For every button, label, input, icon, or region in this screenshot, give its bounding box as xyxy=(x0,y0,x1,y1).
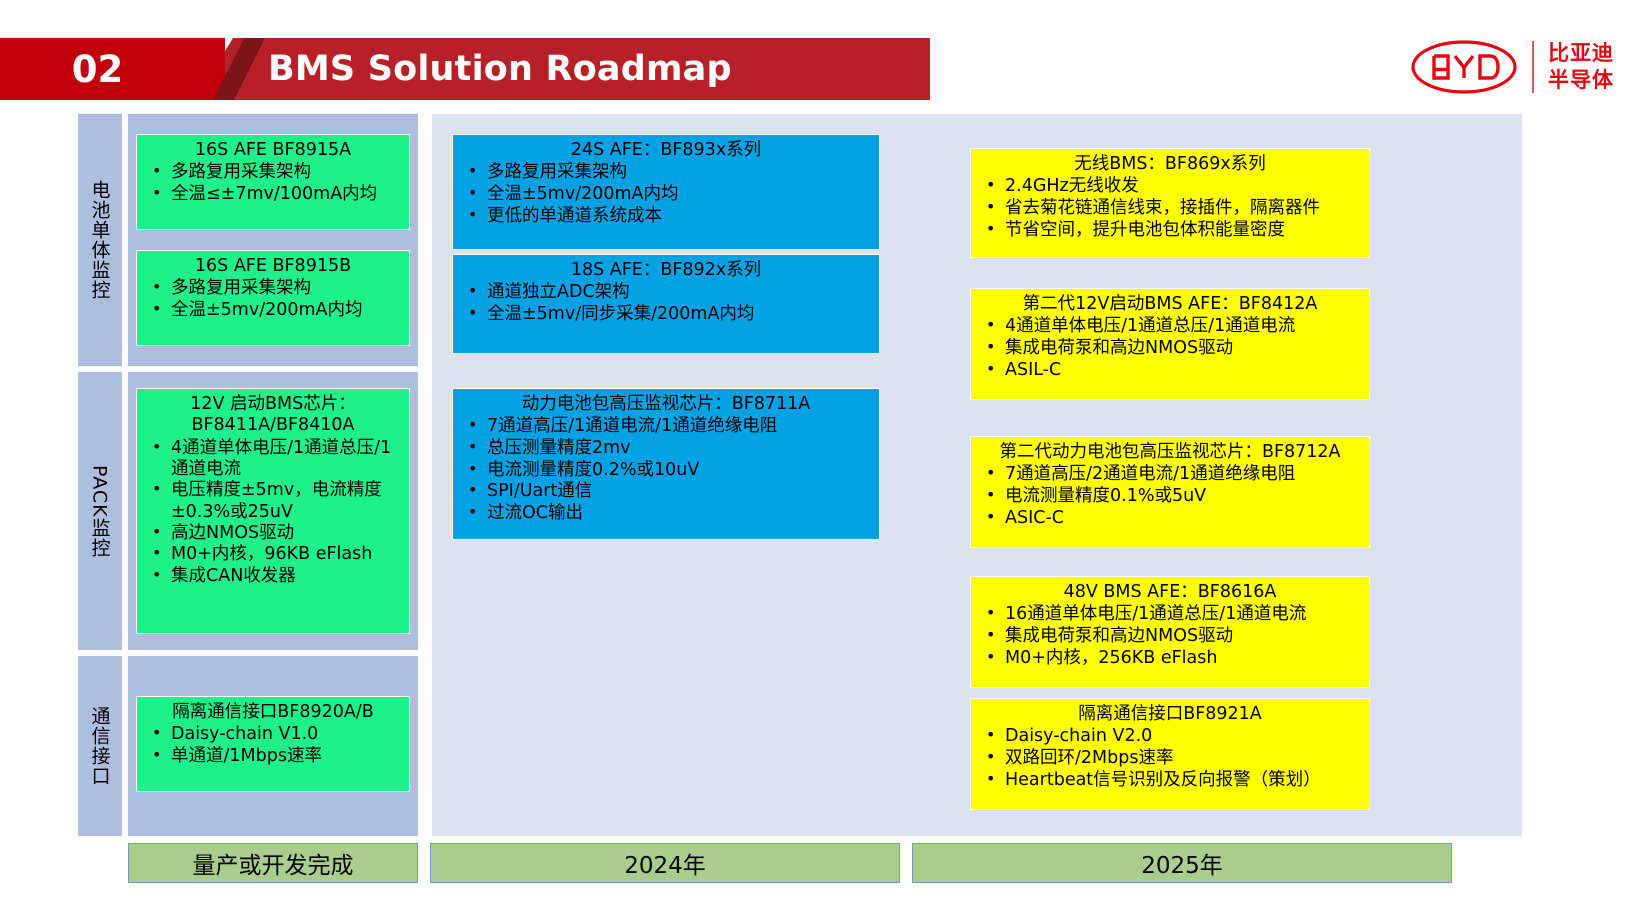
card-48v-bms-bf8616a[interactable]: 48V BMS AFE：BF8616A 16通道单体电压/1通道总压/1通道电流… xyxy=(970,576,1370,688)
card-bullet: 通道独立ADC架构 xyxy=(461,282,871,304)
card-bullet-list: 多路复用采集架构 全温±5mv/200mA内均 xyxy=(145,278,401,321)
card-bullet-list: 多路复用采集架构 全温±5mv/200mA内均 更低的单通道系统成本 xyxy=(461,162,871,227)
footer-bar-label: 量产或开发完成 xyxy=(193,846,354,880)
card-bullet-list: Daisy-chain V2.0 双路回环/2Mbps速率 Heartbeat信… xyxy=(979,726,1361,791)
card-hv-monitor-bf8711a[interactable]: 动力电池包高压监视芯片：BF8711A 7通道高压/1通道电流/1通道绝缘电阻 … xyxy=(452,388,880,540)
sidebar-item-label: 电池单体监控 xyxy=(87,180,114,300)
card-bullet: SPI/Uart通信 xyxy=(461,481,871,503)
slide-root: 02 BMS Solution Roadmap 比亚迪 半导体 电池单体监控 xyxy=(0,0,1636,919)
card-bullet: Heartbeat信号识别及反向报警（策划） xyxy=(979,770,1361,792)
card-bullet: 全温±5mv/200mA内均 xyxy=(461,184,871,206)
card-bullet: M0+内核，256KB eFlash xyxy=(979,648,1361,670)
card-bullet: 多路复用采集架构 xyxy=(145,162,401,184)
card-bullet: 集成电荷泵和高边NMOS驱动 xyxy=(979,338,1361,360)
footer-bar-2025[interactable]: 2025年 xyxy=(912,843,1452,883)
card-title: 16S AFE BF8915B xyxy=(145,256,401,277)
page-title: BMS Solution Roadmap xyxy=(268,38,732,100)
sidebar-item-pack-monitoring[interactable]: PACK监控 xyxy=(78,372,122,650)
card-bullet-list: 7通道高压/1通道电流/1通道绝缘电阻 总压测量精度2mv 电流测量精度0.2%… xyxy=(461,416,871,524)
card-gen2-12v-bms-bf8412a[interactable]: 第二代12V启动BMS AFE：BF8412A 4通道单体电压/1通道总压/1通… xyxy=(970,288,1370,400)
card-bullet: 7通道高压/2通道电流/1通道绝缘电阻 xyxy=(979,464,1361,486)
card-title: 第二代12V启动BMS AFE：BF8412A xyxy=(979,294,1361,315)
logo-chinese-name: 比亚迪 半导体 xyxy=(1548,40,1614,94)
card-16s-afe-bf8915a[interactable]: 16S AFE BF8915A 多路复用采集架构 全温≤±7mv/100mA内均 xyxy=(136,134,410,230)
card-bullet-list: 通道独立ADC架构 全温±5mv/同步采集/200mA内均 xyxy=(461,282,871,325)
card-bullet: 全温±5mv/同步采集/200mA内均 xyxy=(461,304,871,326)
card-16s-afe-bf8915b[interactable]: 16S AFE BF8915B 多路复用采集架构 全温±5mv/200mA内均 xyxy=(136,250,410,346)
sidebar-label-wrap: PACK监控 xyxy=(78,372,122,650)
card-bullet: 集成电荷泵和高边NMOS驱动 xyxy=(979,626,1361,648)
card-bullet: 高边NMOS驱动 xyxy=(145,523,401,544)
card-bullet: 16通道单体电压/1通道总压/1通道电流 xyxy=(979,604,1361,626)
card-bullet: 多路复用采集架构 xyxy=(461,162,871,184)
logo-cn-line1: 比亚迪 xyxy=(1548,40,1614,67)
card-gen2-hv-monitor-bf8712a[interactable]: 第二代动力电池包高压监视芯片：BF8712A 7通道高压/2通道电流/1通道绝缘… xyxy=(970,436,1370,548)
card-bullet: 过流OC输出 xyxy=(461,503,871,525)
sidebar-item-cell-monitoring[interactable]: 电池单体监控 xyxy=(78,114,122,366)
card-title: 48V BMS AFE：BF8616A xyxy=(979,582,1361,603)
card-title: 隔离通信接口BF8920A/B xyxy=(145,702,401,723)
card-bullet: 电流测量精度0.1%或5uV xyxy=(979,486,1361,508)
byd-semiconductor-logo: 比亚迪 半导体 xyxy=(1410,36,1614,98)
card-bullet: 7通道高压/1通道电流/1通道绝缘电阻 xyxy=(461,416,871,438)
card-title: 动力电池包高压监视芯片：BF8711A xyxy=(461,394,871,415)
card-title: 18S AFE：BF892x系列 xyxy=(461,260,871,281)
card-bullet: ASIC-C xyxy=(979,508,1361,530)
card-24s-afe-bf893x[interactable]: 24S AFE：BF893x系列 多路复用采集架构 全温±5mv/200mA内均… xyxy=(452,134,880,250)
card-bullet: 单通道/1Mbps速率 xyxy=(145,746,401,768)
card-bullet: 全温≤±7mv/100mA内均 xyxy=(145,184,401,206)
footer-bar-label: 2024年 xyxy=(624,846,706,880)
card-iso-comm-bf8921a[interactable]: 隔离通信接口BF8921A Daisy-chain V2.0 双路回环/2Mbp… xyxy=(970,698,1370,810)
card-title: 24S AFE：BF893x系列 xyxy=(461,140,871,161)
sidebar-label-wrap: 通信接口 xyxy=(78,656,122,836)
sidebar-item-label: 通信接口 xyxy=(87,706,114,786)
card-bullet-list: 4通道单体电压/1通道总压/1通道电流 集成电荷泵和高边NMOS驱动 ASIL-… xyxy=(979,316,1361,381)
card-bullet: 4通道单体电压/1通道总压/1通道电流 xyxy=(145,438,401,481)
card-bullet: 更低的单通道系统成本 xyxy=(461,206,871,228)
card-bullet-list: 2.4GHz无线收发 省去菊花链通信线束，接插件，隔离器件 节省空间，提升电池包… xyxy=(979,176,1361,241)
card-bullet: 2.4GHz无线收发 xyxy=(979,176,1361,198)
card-bullet: Daisy-chain V2.0 xyxy=(979,726,1361,748)
card-wireless-bms-bf869x[interactable]: 无线BMS：BF869x系列 2.4GHz无线收发 省去菊花链通信线束，接插件，… xyxy=(970,148,1370,258)
logo-divider xyxy=(1532,41,1534,93)
card-bullet-list: Daisy-chain V1.0 单通道/1Mbps速率 xyxy=(145,724,401,767)
card-bullet: 总压测量精度2mv xyxy=(461,438,871,460)
sidebar-item-comm-interface[interactable]: 通信接口 xyxy=(78,656,122,836)
card-bullet: 4通道单体电压/1通道总压/1通道电流 xyxy=(979,316,1361,338)
card-iso-comm-bf8920ab[interactable]: 隔离通信接口BF8920A/B Daisy-chain V1.0 单通道/1Mb… xyxy=(136,696,410,792)
logo-cn-line2: 半导体 xyxy=(1548,67,1614,94)
card-bullet: 集成CAN收发器 xyxy=(145,566,401,587)
sidebar-item-label: PACK监控 xyxy=(87,465,114,558)
header-banner: 02 BMS Solution Roadmap xyxy=(0,38,930,100)
card-title: 12V 启动BMS芯片： BF8411A/BF8410A xyxy=(145,394,401,437)
card-bullet-list: 4通道单体电压/1通道总压/1通道电流 电压精度±5mv，电流精度±0.3%或2… xyxy=(145,438,401,587)
section-number: 02 xyxy=(0,38,195,100)
byd-oval-logo-icon xyxy=(1410,39,1518,95)
card-bullet: 省去菊花链通信线束，接插件，隔离器件 xyxy=(979,198,1361,220)
card-bullet: 全温±5mv/200mA内均 xyxy=(145,300,401,322)
sidebar-label-wrap: 电池单体监控 xyxy=(78,114,122,366)
card-bullet-list: 多路复用采集架构 全温≤±7mv/100mA内均 xyxy=(145,162,401,205)
card-bullet: 电流测量精度0.2%或10uV xyxy=(461,460,871,482)
card-bullet: 多路复用采集架构 xyxy=(145,278,401,300)
card-18s-afe-bf892x[interactable]: 18S AFE：BF892x系列 通道独立ADC架构 全温±5mv/同步采集/2… xyxy=(452,254,880,354)
card-title: 16S AFE BF8915A xyxy=(145,140,401,161)
card-bullet: M0+内核，96KB eFlash xyxy=(145,544,401,565)
footer-bar-label: 2025年 xyxy=(1141,846,1223,880)
card-title: 隔离通信接口BF8921A xyxy=(979,704,1361,725)
card-bullet-list: 16通道单体电压/1通道总压/1通道电流 集成电荷泵和高边NMOS驱动 M0+内… xyxy=(979,604,1361,669)
card-12v-bms-bf8411a[interactable]: 12V 启动BMS芯片： BF8411A/BF8410A 4通道单体电压/1通道… xyxy=(136,388,410,634)
card-bullet-list: 7通道高压/2通道电流/1通道绝缘电阻 电流测量精度0.1%或5uV ASIC-… xyxy=(979,464,1361,529)
card-bullet: 双路回环/2Mbps速率 xyxy=(979,748,1361,770)
footer-bar-2024[interactable]: 2024年 xyxy=(430,843,900,883)
card-title: 无线BMS：BF869x系列 xyxy=(979,154,1361,175)
card-title: 第二代动力电池包高压监视芯片：BF8712A xyxy=(979,442,1361,463)
card-bullet: Daisy-chain V1.0 xyxy=(145,724,401,746)
card-bullet: ASIL-C xyxy=(979,360,1361,382)
footer-bar-mass-production[interactable]: 量产或开发完成 xyxy=(128,843,418,883)
card-bullet: 电压精度±5mv，电流精度±0.3%或25uV xyxy=(145,480,401,523)
card-bullet: 节省空间，提升电池包体积能量密度 xyxy=(979,220,1361,242)
